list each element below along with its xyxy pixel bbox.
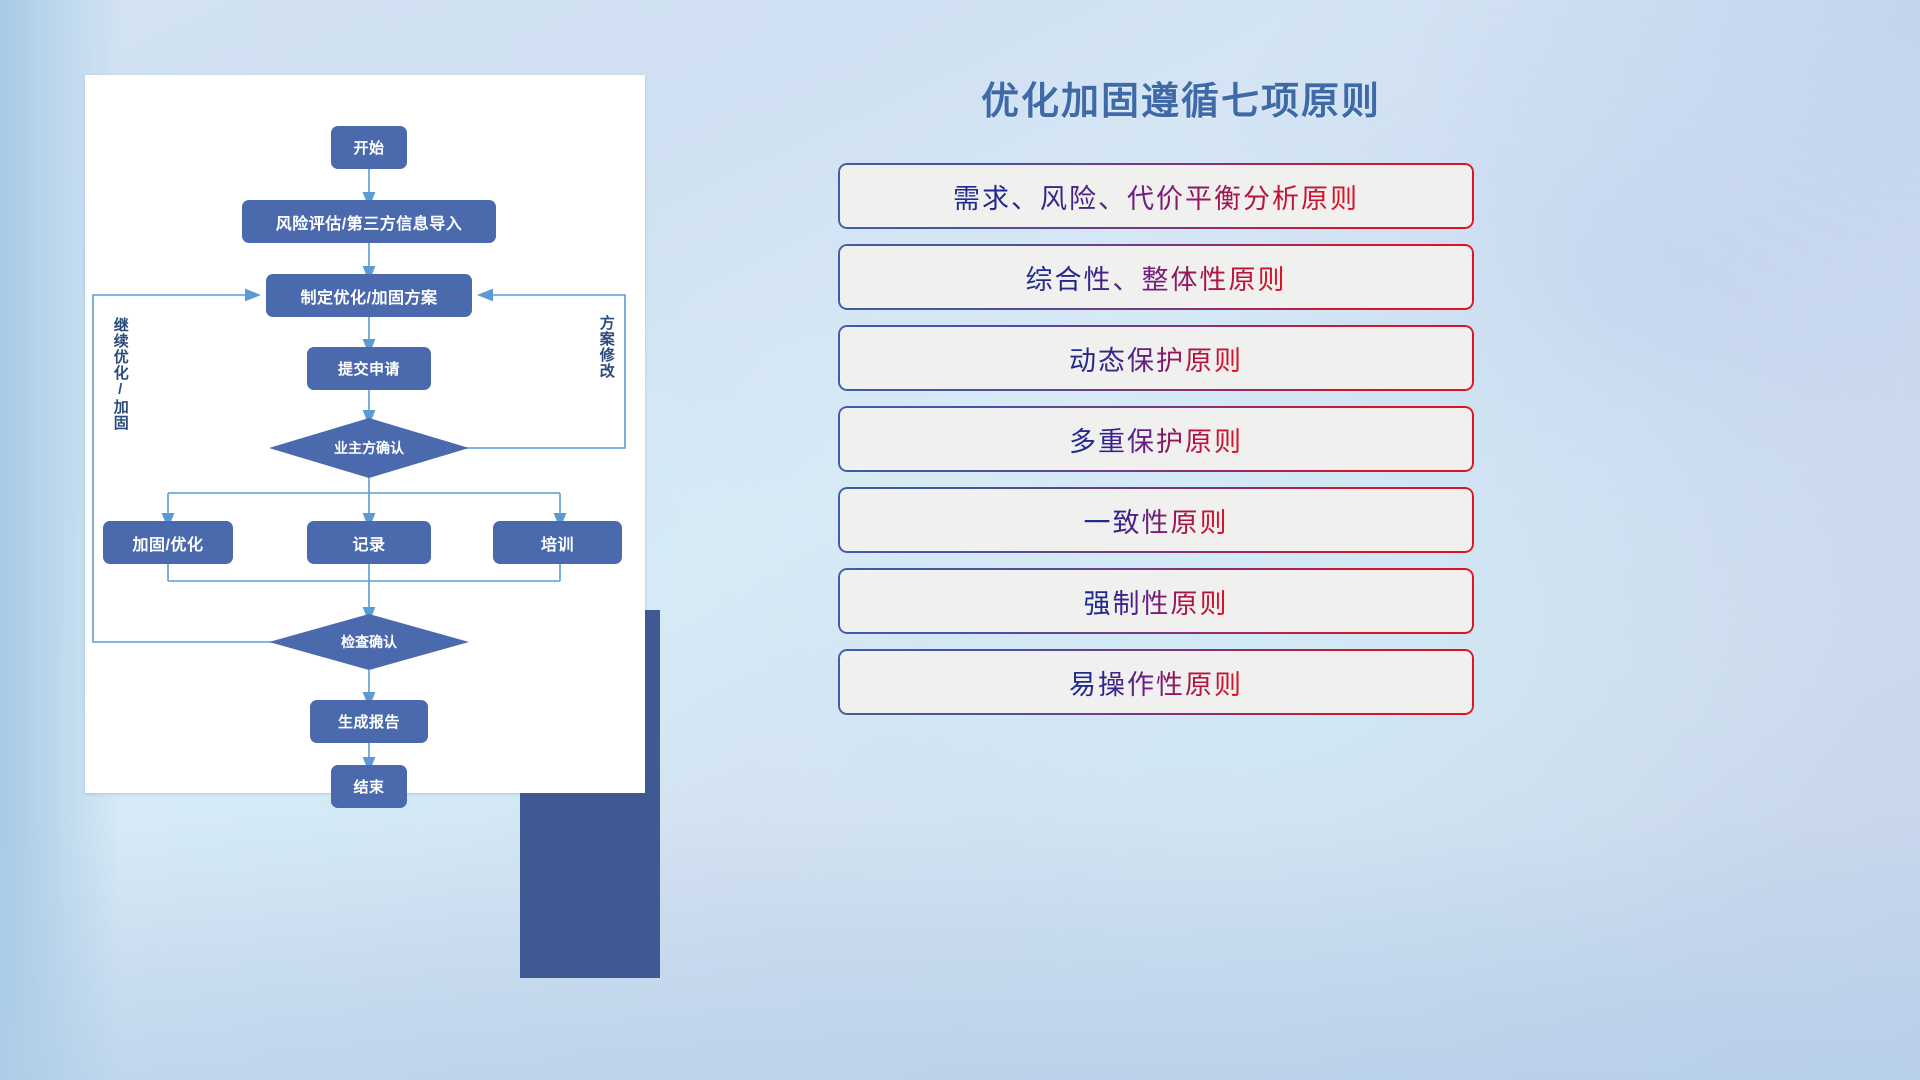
principle-label: 易操作性原则 (1069, 663, 1243, 702)
principle-label: 需求、风险、代价平衡分析原则 (953, 177, 1359, 216)
principle-item-4[interactable]: 多重保护原则 (838, 406, 1474, 472)
principle-item-5[interactable]: 一致性原则 (838, 487, 1474, 553)
background-bottom-tint (0, 820, 1920, 1080)
principle-item-3[interactable]: 动态保护原则 (838, 325, 1474, 391)
flow-node-risk-assessment: 风险评估/第三方信息导入 (242, 200, 496, 243)
principle-label: 动态保护原则 (1069, 339, 1243, 378)
flow-node-start: 开始 (331, 126, 407, 169)
flowchart-card: 开始 风险评估/第三方信息导入 制定优化/加固方案 提交申请 业主方确认 加固/… (85, 75, 645, 793)
flow-node-plan: 制定优化/加固方案 (266, 274, 472, 317)
principle-label: 综合性、整体性原则 (1026, 258, 1287, 297)
principle-item-6[interactable]: 强制性原则 (838, 568, 1474, 634)
flow-edge-label-left: 继续优化/加固 (112, 317, 128, 452)
flow-node-end: 结束 (331, 765, 407, 808)
principle-label: 多重保护原则 (1069, 420, 1243, 459)
panel-title: 优化加固遵循七项原则 (820, 70, 1520, 125)
principle-label: 一致性原则 (1084, 501, 1229, 540)
flow-node-reinforce: 加固/优化 (103, 521, 233, 564)
flow-edge-label-right: 方案修改 (598, 315, 614, 420)
principle-label: 强制性原则 (1084, 582, 1229, 621)
principle-item-1[interactable]: 需求、风险、代价平衡分析原则 (838, 163, 1474, 229)
flow-node-owner-confirm: 业主方确认 (269, 418, 469, 478)
flow-node-submit-application: 提交申请 (307, 347, 431, 390)
principle-item-7[interactable]: 易操作性原则 (838, 649, 1474, 715)
flow-node-record: 记录 (307, 521, 431, 564)
flow-node-check-confirm: 检查确认 (269, 614, 469, 670)
principles-panel: 优化加固遵循七项原则 需求、风险、代价平衡分析原则 综合性、整体性原则 动态保护… (820, 70, 1520, 730)
flow-node-training: 培训 (493, 521, 622, 564)
flow-node-generate-report: 生成报告 (310, 700, 428, 743)
principle-item-2[interactable]: 综合性、整体性原则 (838, 244, 1474, 310)
